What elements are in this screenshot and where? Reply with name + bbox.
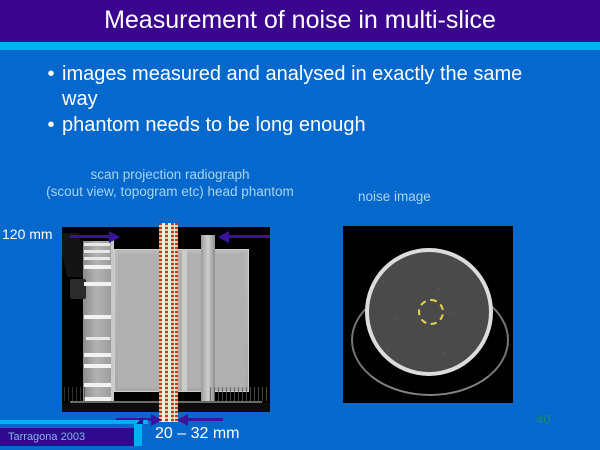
radiograph-screw bbox=[84, 364, 111, 368]
radiograph-screw bbox=[84, 282, 111, 286]
radiograph-caption-line1: scan projection radiograph bbox=[10, 166, 330, 183]
radiograph-screw bbox=[86, 337, 110, 340]
bullet-list: • images measured and analysed in exactl… bbox=[40, 62, 560, 139]
slice-reference-lines-overlay bbox=[159, 223, 178, 422]
radiograph-screw bbox=[84, 243, 110, 246]
arrow-shaft bbox=[229, 235, 270, 238]
radiograph-caption-line2: (scout view, topogram etc) head phantom bbox=[10, 183, 330, 200]
arrow-head bbox=[151, 414, 162, 426]
ct-annotation-top-left bbox=[348, 231, 351, 237]
radiograph-scale-ticks-right bbox=[210, 387, 268, 401]
arrow-head bbox=[177, 414, 188, 426]
arrow-head bbox=[109, 231, 120, 243]
noise-image bbox=[343, 226, 513, 403]
arrow-shaft bbox=[70, 235, 110, 238]
list-item: • images measured and analysed in exactl… bbox=[40, 62, 560, 112]
radiograph-right-pillar bbox=[201, 235, 215, 403]
bullet-text: phantom needs to be long enough bbox=[62, 113, 560, 138]
radiograph-scale-ticks-left bbox=[64, 387, 86, 401]
ct-annotation-top-right bbox=[505, 231, 508, 237]
footer-conference-label: Tarragona 2003 bbox=[8, 430, 85, 444]
footer-accent-block bbox=[134, 424, 142, 446]
radiograph-bright-band bbox=[182, 249, 187, 392]
page-number: 40 bbox=[536, 412, 550, 428]
ct-roi-circle-marker bbox=[418, 299, 444, 325]
ct-annotation-bottom-left bbox=[348, 391, 351, 397]
arrow-shaft bbox=[188, 418, 223, 421]
reference-line bbox=[175, 223, 178, 422]
bullet-marker-icon: • bbox=[40, 62, 62, 87]
title-accent-stripe bbox=[0, 42, 600, 50]
slice-width-label: 20 – 32 mm bbox=[155, 424, 239, 444]
noise-image-caption: noise image bbox=[358, 188, 431, 205]
list-item: • phantom needs to be long enough bbox=[40, 113, 560, 138]
radiograph-screw bbox=[84, 353, 111, 357]
footer-accent-stripe bbox=[0, 420, 148, 424]
bullet-marker-icon: • bbox=[40, 113, 62, 138]
radiograph-screw bbox=[84, 383, 111, 387]
radiograph-screw bbox=[84, 315, 111, 319]
title-lower-stripe bbox=[0, 50, 600, 55]
vertical-extent-label: 120 mm bbox=[2, 225, 53, 243]
page-title: Measurement of noise in multi-slice bbox=[0, 3, 600, 37]
footer-corner-triangle bbox=[136, 417, 143, 424]
radiograph-screw bbox=[84, 257, 110, 260]
radiograph-screw bbox=[84, 250, 110, 253]
arrow-head bbox=[218, 231, 229, 243]
bullet-text: images measured and analysed in exactly … bbox=[62, 62, 560, 112]
radiograph-caption: scan projection radiograph (scout view, … bbox=[10, 166, 330, 200]
slide-root: Measurement of noise in multi-slice • im… bbox=[0, 0, 600, 450]
radiograph-screw bbox=[84, 265, 111, 269]
